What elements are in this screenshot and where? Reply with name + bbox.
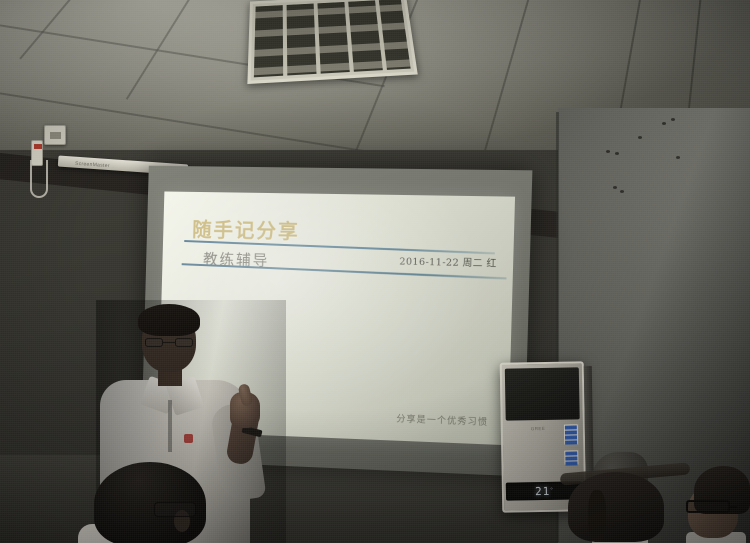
slide-footer: 分享是一个优秀习惯 [396,411,488,428]
power-outlet[interactable] [44,125,66,145]
hanging-cable [30,160,48,198]
glasses-icon [686,500,730,513]
audience-member-foreground-left [78,462,228,543]
audience-member-right-profile [686,466,750,543]
ac-degree-symbol: ° [550,488,553,494]
slide-date: 2016-11-22 周二 红 [399,253,497,269]
louvered-ceiling-light [247,0,417,84]
ac-air-outlet-grille [505,367,580,420]
energy-rating-label [563,449,579,465]
glasses-icon [145,338,193,347]
ac-brand-logo: GREE [531,426,545,431]
ceiling-grid-line [126,0,202,100]
glasses-icon [154,502,196,517]
presenter-shirt-placket [168,400,172,452]
presenter-shirt-logo [184,434,193,443]
light-louver-cavity [254,0,411,77]
ceiling-grid-line [19,0,91,60]
presenter-hair [138,304,200,336]
audience-hair-strand [588,490,606,542]
energy-rating-label [563,423,579,445]
audience-hair [568,472,664,542]
meeting-room-photo: ScreenMaster 随手记分享 2016-11-22 周二 红 教练辅导 … [0,0,750,543]
slide-title: 随手记分享 [192,214,300,245]
ac-temperature-value: 21 [535,484,550,497]
audience-member-right-back [566,472,676,543]
